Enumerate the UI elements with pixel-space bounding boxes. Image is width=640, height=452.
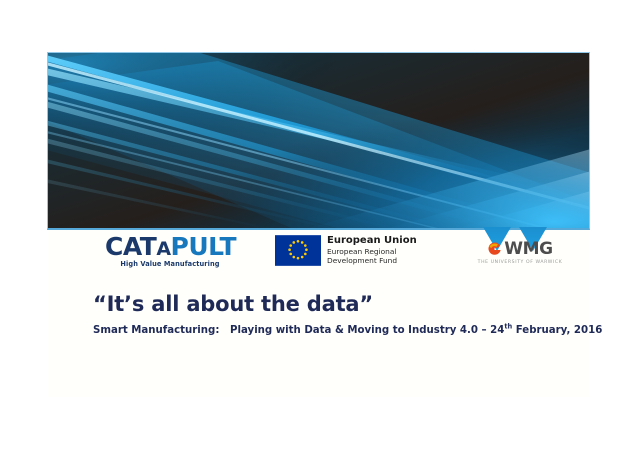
wmg-wordmark-row: WMG <box>468 241 572 258</box>
page-subtitle: Smart Manufacturing: Playing with Data &… <box>93 324 573 337</box>
subtitle-text-main: Smart Manufacturing: Playing with Data &… <box>93 325 504 336</box>
hero-banner-image <box>47 52 590 230</box>
subtitle-text-tail: February, 2016 <box>512 325 602 336</box>
eu-flag-icon <box>275 235 321 266</box>
wmg-swoosh-icon <box>487 242 502 257</box>
eu-subtitle-line2: Development Fund <box>327 256 417 265</box>
catapult-word-a: A <box>156 238 170 260</box>
eu-title: European Union <box>327 235 417 247</box>
subtitle-ordinal-suffix: th <box>504 323 512 331</box>
catapult-word-cat: CAT <box>105 232 156 261</box>
title-block: “It’s all about the data” Smart Manufact… <box>93 292 573 337</box>
page-title: “It’s all about the data” <box>93 292 573 316</box>
hero-banner-graphic <box>48 53 590 230</box>
wmg-tagline: THE UNIVERSITY OF WARWICK <box>468 260 572 265</box>
european-union-logo: European Union European Regional Develop… <box>275 235 417 266</box>
partner-logo-strip: CATAPULT High Value Manufacturing <box>47 232 590 284</box>
eu-subtitle-line1: European Regional <box>327 247 417 256</box>
wmg-logo: WMG THE UNIVERSITY OF WARWICK <box>468 241 572 265</box>
eu-logo-text: European Union European Regional Develop… <box>327 235 417 265</box>
catapult-wordmark: CATAPULT <box>105 234 235 259</box>
wmg-word: WMG <box>504 241 552 258</box>
catapult-tagline: High Value Manufacturing <box>105 260 235 268</box>
catapult-logo: CATAPULT High Value Manufacturing <box>105 234 235 268</box>
catapult-word-pult: PULT <box>171 232 236 261</box>
presentation-slide: CATAPULT High Value Manufacturing <box>47 52 590 397</box>
